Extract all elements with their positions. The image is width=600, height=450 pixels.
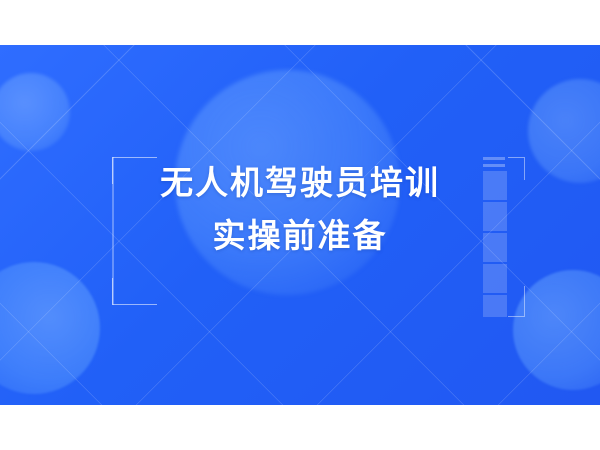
training-banner: 无人机驾驶员培训 实操前准备: [0, 45, 600, 405]
banner-title-block: 无人机驾驶员培训 实操前准备: [0, 158, 600, 264]
page-canvas: 无人机驾驶员培训 实操前准备: [0, 0, 600, 450]
banner-title-line-1: 无人机驾驶员培训: [0, 158, 600, 210]
banner-title-line-2: 实操前准备: [0, 210, 600, 264]
